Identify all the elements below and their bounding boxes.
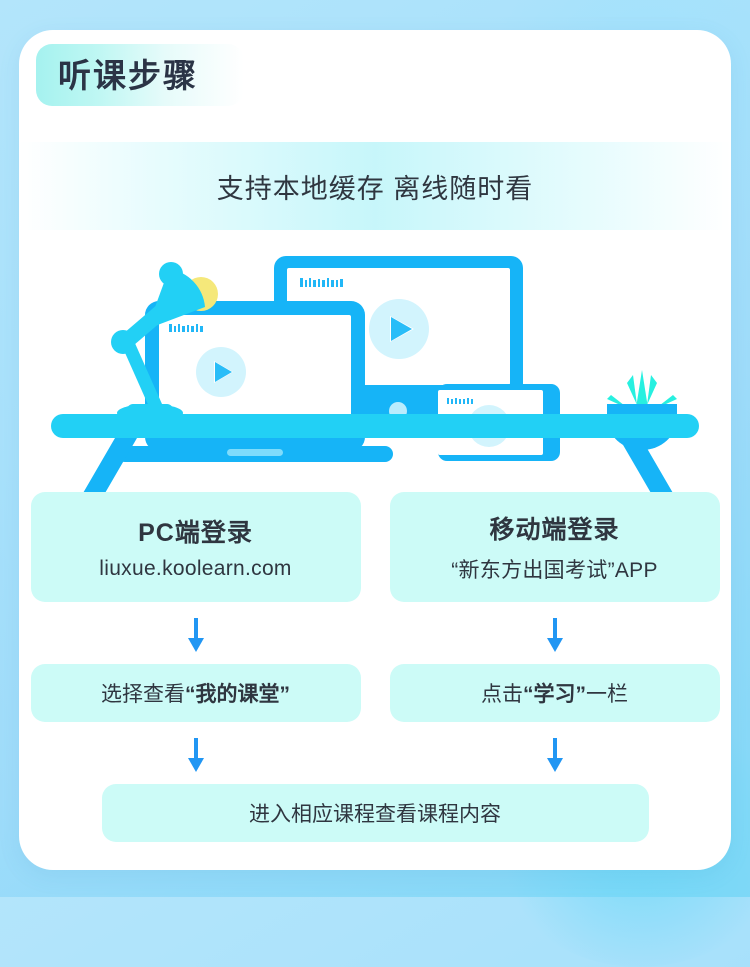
play-button-icon [369,299,429,359]
pc-login-box[interactable]: PC端登录 liuxue.koolearn.com [31,492,361,602]
arrow-cell-mobile [390,618,720,652]
mobile-login-title: 移动端登录 [489,510,619,546]
final-step-text: 进入相应课程查看课程内容 [249,798,501,828]
mobile-step-text: 点击“学习”一栏 [481,678,628,708]
pc-step-emphasis: “我的课堂” [185,683,290,706]
subtitle-band: 支持本地缓存 离线随时看 [19,142,731,230]
pc-login-url: liuxue.koolearn.com [99,557,291,581]
login-options-row: PC端登录 liuxue.koolearn.com 移动端登录 “新东方出国考试… [19,492,731,602]
arrows-row-1 [19,618,731,652]
page-subtitle: 支持本地缓存 离线随时看 [217,167,534,206]
pc-step-prefix: 选择查看 [101,683,185,706]
pc-login-title: PC端登录 [138,513,253,549]
arrow-cell-pc [31,618,361,652]
page-title: 听课步骤 [58,59,198,92]
mobile-login-box[interactable]: 移动端登录 “新东方出国考试”APP [390,492,720,602]
arrows-row-2 [19,738,731,772]
steps-flow: PC端登录 liuxue.koolearn.com 移动端登录 “新东方出国考试… [19,492,731,842]
final-step-box[interactable]: 进入相应课程查看课程内容 [102,784,649,842]
content-card: 听课步骤 支持本地缓存 离线随时看 [19,30,731,870]
mobile-login-app: “新东方出国考试”APP [451,554,658,584]
mobile-step-emphasis: “学习” [523,683,586,706]
arrow-down-icon [547,618,563,652]
mobile-step-box[interactable]: 点击“学习”一栏 [390,664,720,722]
arrow-down-icon [188,738,204,772]
arrow-cell-pc-final [31,738,361,772]
play-button-icon [196,347,246,397]
multi-device-learning-desk-illustration [19,218,731,500]
pc-step-box[interactable]: 选择查看“我的课堂” [31,664,361,722]
mobile-step-prefix: 点击 [481,683,523,706]
mobile-step-suffix: 一栏 [586,683,628,706]
arrow-down-icon [547,738,563,772]
arrow-cell-mobile-final [390,738,720,772]
steps-row: 选择查看“我的课堂” 点击“学习”一栏 [19,664,731,722]
final-row: 进入相应课程查看课程内容 [19,784,731,842]
page-title-pill: 听课步骤 [36,44,244,106]
arrow-down-icon [188,618,204,652]
pc-step-text: 选择查看“我的课堂” [101,678,290,708]
